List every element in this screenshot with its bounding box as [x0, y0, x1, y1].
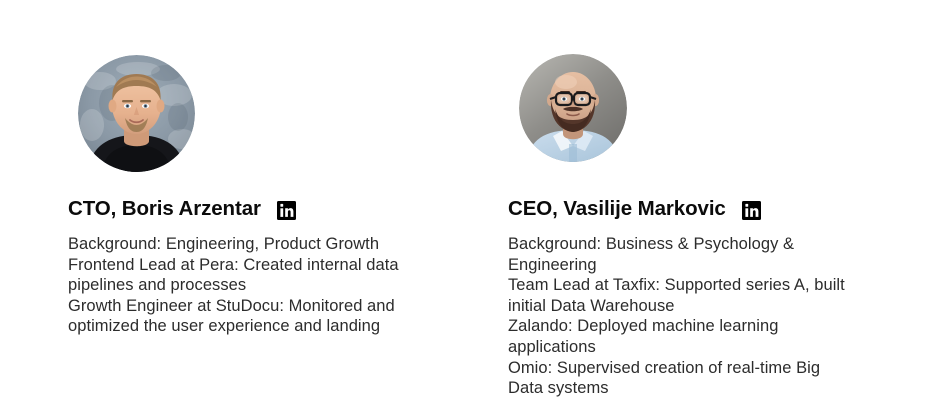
bio-line: Growth Engineer at StuDocu: Monitored an…	[68, 296, 413, 337]
profile-card-cto: CTO, Boris Arzentar Background: Engineer…	[68, 0, 508, 412]
team-profiles: CTO, Boris Arzentar Background: Engineer…	[0, 0, 948, 412]
avatar	[519, 54, 627, 162]
bio-line: Omio: Supervised creation of real-time B…	[508, 358, 858, 399]
bio-line: Background: Engineering, Product Growth	[68, 234, 413, 255]
bio-line: Team Lead at Taxfix: Supported series A,…	[508, 275, 858, 316]
profile-card-ceo: CEO, Vasilije Markovic Background: Busin…	[508, 0, 948, 412]
linkedin-icon[interactable]	[742, 201, 761, 220]
profile-bio: Background: Engineering, Product Growth …	[68, 234, 413, 337]
bio-line: Zalando: Deployed machine learning appli…	[508, 316, 858, 357]
avatar-photo-boris	[78, 55, 195, 172]
profile-name-row: CTO, Boris Arzentar	[68, 197, 296, 221]
linkedin-icon[interactable]	[277, 201, 296, 220]
bio-line: Background: Business & Psychology & Engi…	[508, 234, 858, 275]
avatar-photo-vasilije	[519, 54, 627, 162]
bio-line: Frontend Lead at Pera: Created internal …	[68, 255, 413, 296]
page-title: CEO, Vasilije Markovic	[508, 197, 726, 221]
profile-bio: Background: Business & Psychology & Engi…	[508, 234, 858, 399]
profile-name-row: CEO, Vasilije Markovic	[508, 197, 761, 221]
page-title: CTO, Boris Arzentar	[68, 197, 261, 221]
avatar	[78, 55, 195, 172]
